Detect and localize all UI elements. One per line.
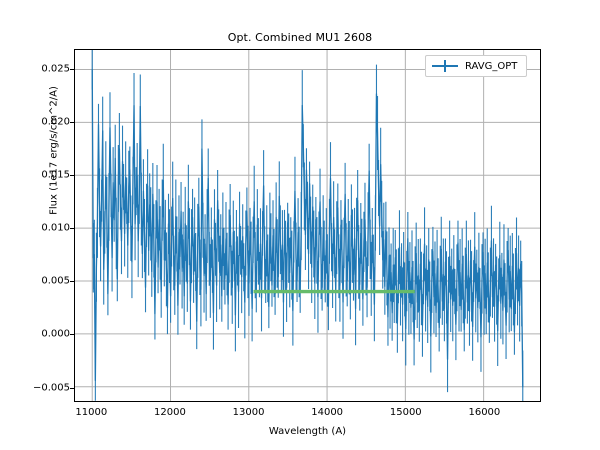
y-tick-mark: [70, 228, 74, 229]
y-tick-label: 0.000: [10, 329, 70, 340]
y-tick-mark: [70, 175, 74, 176]
x-tick-label: 16000: [449, 407, 519, 418]
chart-title: Opt. Combined MU1 2608: [0, 31, 600, 44]
x-axis-tick-labels: 110001200013000140001500016000: [74, 407, 541, 423]
y-tick-label: −0.005: [10, 382, 70, 393]
y-tick-label: 0.025: [10, 63, 70, 74]
legend-marker-ravg-opt: [432, 60, 458, 72]
x-tick-label: 14000: [292, 407, 362, 418]
data-series-layer: [75, 50, 540, 401]
x-tick-label: 13000: [214, 407, 284, 418]
y-tick-mark: [70, 334, 74, 335]
y-axis-tick-labels: −0.0050.0000.0050.0100.0150.0200.025: [6, 49, 70, 402]
y-tick-mark: [70, 388, 74, 389]
x-axis-label: Wavelength (A): [74, 426, 541, 437]
x-tick-label: 11000: [56, 407, 126, 418]
chart-legend[interactable]: RAVG_OPT: [425, 55, 527, 77]
x-tick-label: 12000: [135, 407, 205, 418]
y-tick-label: 0.020: [10, 116, 70, 127]
legend-label-ravg-opt: RAVG_OPT: [465, 61, 517, 72]
y-tick-mark: [70, 122, 74, 123]
y-tick-label: 0.015: [10, 170, 70, 181]
chart-figure: Opt. Combined MU1 2608 Flux (1e17 erg/s/…: [0, 0, 600, 450]
y-tick-label: 0.010: [10, 223, 70, 234]
y-tick-label: 0.005: [10, 276, 70, 287]
x-tick-label: 15000: [371, 407, 441, 418]
plot-area: [74, 49, 541, 402]
y-tick-mark: [70, 69, 74, 70]
y-tick-mark: [70, 281, 74, 282]
